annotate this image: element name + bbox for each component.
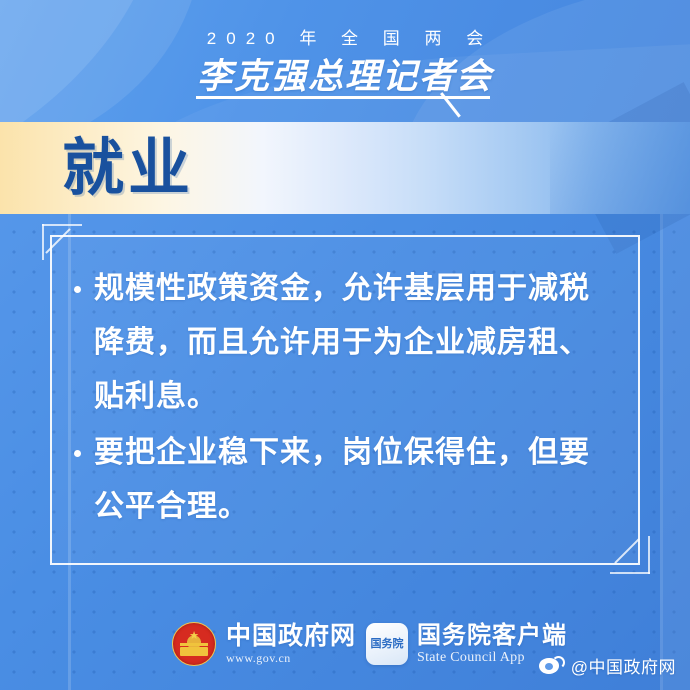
gov-logo-group[interactable]: ★ 中国政府网 www.gov.cn xyxy=(172,622,356,666)
emblem-star-glyph: ★ xyxy=(189,631,199,642)
bullet-list: 规模性政策资金，允许基层用于减税降费，而且允许用于为企业减房租、贴利息。 要把企… xyxy=(72,262,620,536)
header-subtitle: 2020 年 全 国 两 会 xyxy=(0,24,690,49)
rule-long-segment xyxy=(196,96,446,99)
card-corner-bevel-top-left xyxy=(42,224,68,250)
app-name-cn: 国务院客户端 xyxy=(417,622,567,649)
weibo-icon xyxy=(539,656,565,676)
list-item: 规模性政策资金，允许基层用于减税降费，而且允许用于为企业减房租、贴利息。 xyxy=(72,262,620,424)
gov-site-url: www.gov.cn xyxy=(226,650,356,666)
poster-root: 2020 年 全 国 两 会 李克强总理记者会 就业 规模性政策资金，允许基层用… xyxy=(0,0,690,690)
weibo-handle-group[interactable]: @中国政府网 xyxy=(539,653,676,678)
state-council-app-icon: 国务院 xyxy=(366,623,408,665)
weibo-icon-arc xyxy=(552,656,565,669)
rule-short-segment xyxy=(430,96,490,99)
gov-text-group: 中国政府网 www.gov.cn xyxy=(226,622,356,666)
footer: ★ 中国政府网 www.gov.cn 国务院 国务院客户端 State Coun… xyxy=(0,604,690,690)
emblem-gate-shape xyxy=(180,647,208,656)
card-corner-bevel-bottom-right xyxy=(612,536,640,564)
app-icon-label: 国务院 xyxy=(371,638,404,650)
header-decorative-rule xyxy=(0,92,690,118)
section-title-band-shade xyxy=(550,122,690,214)
gov-site-name: 中国政府网 xyxy=(226,622,356,650)
header-banner: 2020 年 全 国 两 会 李克强总理记者会 xyxy=(0,0,690,122)
national-emblem-icon: ★ xyxy=(172,622,216,666)
weibo-handle: @中国政府网 xyxy=(571,653,676,678)
app-logo-group[interactable]: 国务院 国务院客户端 State Council App xyxy=(366,622,567,666)
section-title: 就业 xyxy=(62,132,194,206)
list-item: 要把企业稳下来，岗位保得住，但要公平合理。 xyxy=(72,426,620,534)
